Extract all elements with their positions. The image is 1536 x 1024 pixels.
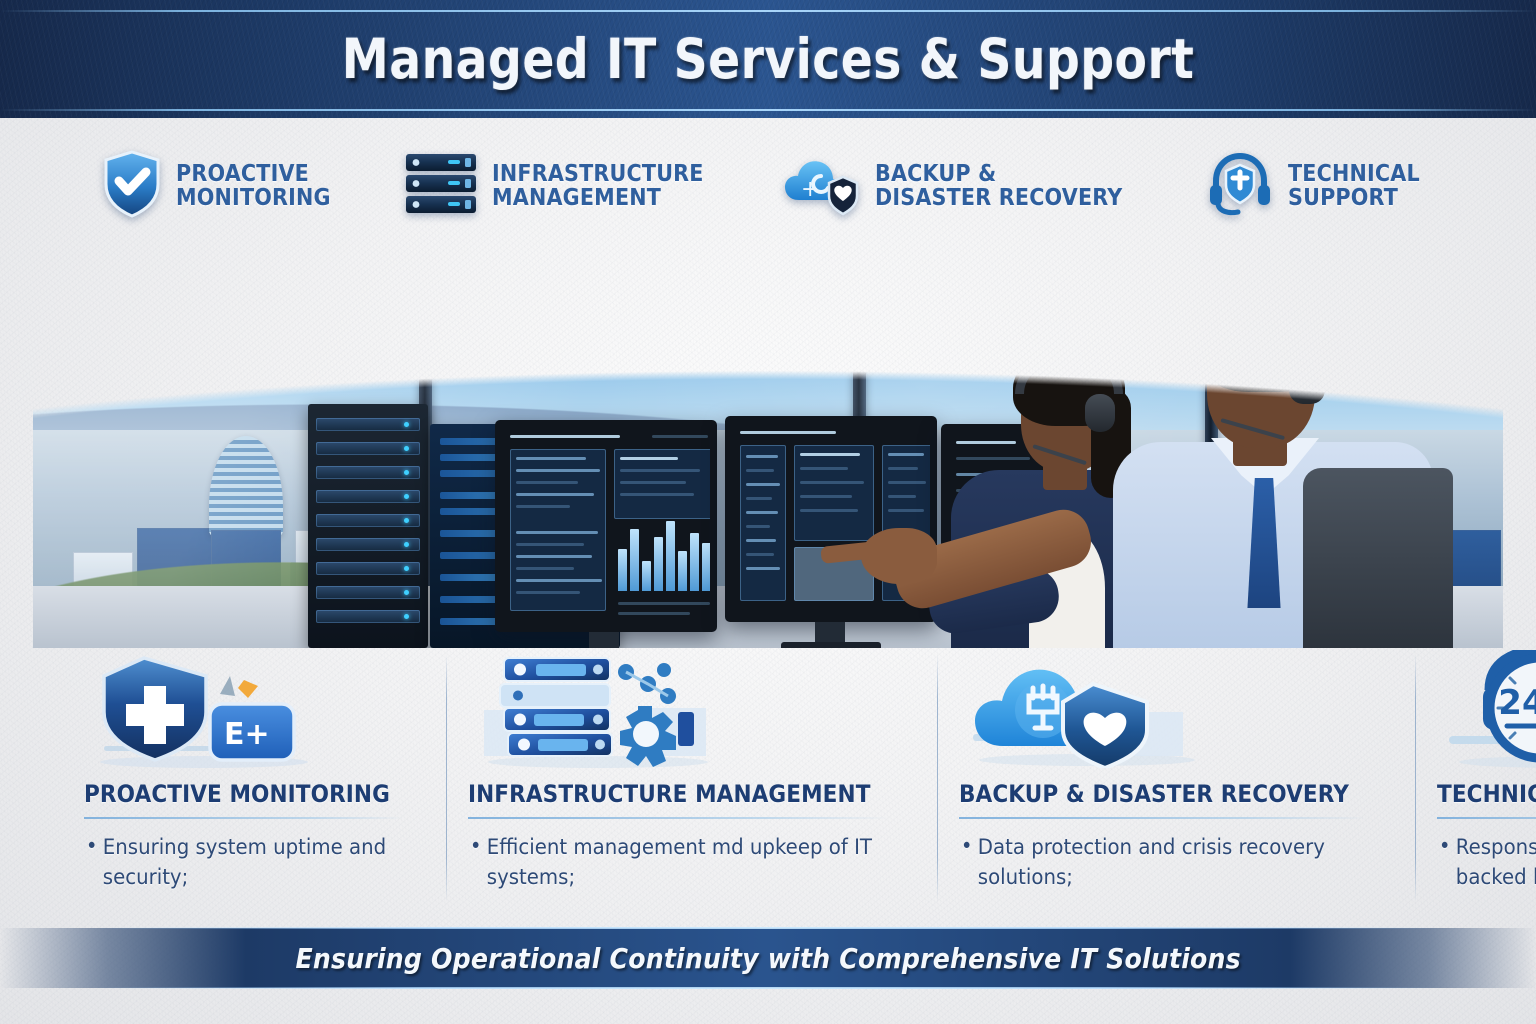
feature-bullet: Ensuring system uptime and security; <box>84 833 404 893</box>
top-badge-strip: PROACTIVE MONITORING <box>0 140 1536 232</box>
headset-earcup <box>1289 360 1325 404</box>
top-badge-backup-disaster-recovery[interactable]: + BACKUP & DISASTER RECOVERY <box>783 152 1150 221</box>
footer-banner: Ensuring Operational Continuity with Com… <box>0 928 1536 988</box>
feature-bullet: Response and resolution backed by SLAs <box>1437 833 1536 893</box>
office-chair <box>1303 468 1453 648</box>
top-badge-proactive-monitoring[interactable]: PROACTIVE MONITORING <box>102 150 348 223</box>
cloud <box>1153 268 1333 296</box>
server-gear-icon <box>468 648 915 768</box>
top-badge-label: BACKUP & DISASTER RECOVERY <box>875 162 1122 211</box>
hero-scene <box>33 228 1503 648</box>
cloud <box>913 290 1043 314</box>
cloud-backup-shield-icon: + <box>783 152 861 221</box>
feature-card-proactive-monitoring[interactable]: E+ PROACTIVE MONITORING Ensuring system … <box>62 648 446 920</box>
header-banner: Managed IT Services & Support <box>0 0 1536 118</box>
svg-text:24/7: 24/7 <box>1498 683 1536 723</box>
feature-title: BACKUP & DISASTER RECOVERY <box>959 780 1349 808</box>
cloud-shield-heart-icon <box>959 648 1392 768</box>
shield-plus-health-icon: E+ <box>84 648 424 768</box>
feature-title: TECHNICAL SUPPORT <box>1437 780 1536 808</box>
top-badge-infrastructure-management[interactable]: INFRASTRUCTURE MANAGEMENT <box>404 152 727 221</box>
shield-check-icon <box>102 150 162 223</box>
feature-bullet: Data protection and crisis recovery solu… <box>959 833 1366 893</box>
hero-photo <box>33 228 1503 648</box>
support-agent-male <box>1103 308 1443 648</box>
cloud <box>793 258 963 288</box>
svg-text:E+: E+ <box>224 717 270 752</box>
headset-support-icon <box>1206 151 1274 222</box>
footer-tagline: Ensuring Operational Continuity with Com… <box>295 942 1240 975</box>
feature-separator <box>1437 817 1536 819</box>
feature-separator <box>959 817 1366 819</box>
monitor-neck <box>815 622 845 644</box>
server-rack <box>308 404 428 648</box>
top-badge-technical-support[interactable]: TECHNICAL SUPPORT <box>1206 151 1434 222</box>
top-badge-label: PROACTIVE MONITORING <box>176 162 331 211</box>
feature-bullet: Efficient management md upkeep of IT sys… <box>468 833 888 893</box>
clock-24-7-headset-icon: 24/7 <box>1437 648 1536 768</box>
feature-separator <box>468 817 888 819</box>
top-badge-label: INFRASTRUCTURE MANAGEMENT <box>492 162 704 211</box>
poster-canvas: Managed IT Services & Support PROACTIVE … <box>0 0 1536 1024</box>
cloud <box>193 250 303 276</box>
feature-title: PROACTIVE MONITORING <box>84 780 390 808</box>
feature-title: INFRASTRUCTURE MANAGEMENT <box>468 780 871 808</box>
feature-card-infrastructure-management[interactable]: INFRASTRUCTURE MANAGEMENT Efficient mana… <box>446 648 937 920</box>
server-stack-icon <box>404 152 478 221</box>
monitor-neck <box>589 632 619 648</box>
feature-card-technical-support[interactable]: 24/7 TECHNICAL SUPPORT Response and reso… <box>1415 648 1536 920</box>
feature-columns: E+ PROACTIVE MONITORING Ensuring system … <box>62 648 1474 920</box>
top-badge-label: TECHNICAL SUPPORT <box>1288 162 1420 211</box>
feature-separator <box>84 817 404 819</box>
dashboard-monitor-left <box>495 420 717 632</box>
page-title: Managed IT Services & Support <box>108 0 1429 118</box>
feature-card-backup-disaster-recovery[interactable]: BACKUP & DISASTER RECOVERY Data protecti… <box>937 648 1414 920</box>
